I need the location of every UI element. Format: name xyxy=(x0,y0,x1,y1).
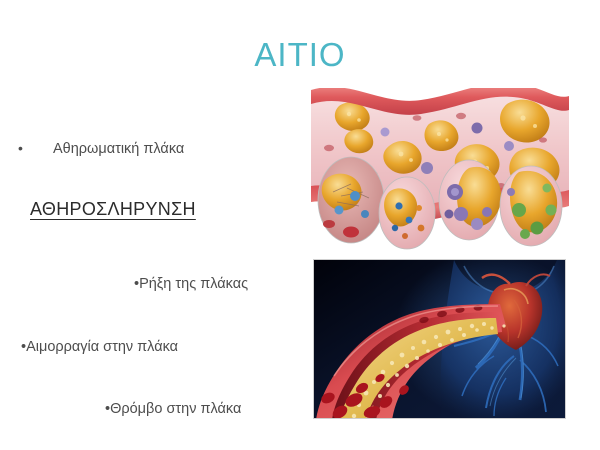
inset-circle-2 xyxy=(379,177,435,249)
sub-bullet-plaque-thrombus: •Θρόμβο στην πλάκα xyxy=(105,401,241,417)
bullet-item-label: Αθηρωματική πλάκα xyxy=(53,141,184,157)
page-title: ΑΙΤΙΟ xyxy=(0,36,600,74)
artery-plaque-illustration xyxy=(311,88,569,250)
inset-circle-4 xyxy=(500,166,562,246)
bullet-marker-icon: • xyxy=(18,141,53,155)
inset-circle-1 xyxy=(318,157,384,243)
bullet-item-atheromatous-plaque: • Αθηρωματική πλάκα xyxy=(18,141,184,157)
slide-canvas: ΑΙΤΙΟ • Αθηρωματική πλάκα ΑΘΗΡΟΣΛΗΡΥΝΣΗ … xyxy=(0,0,600,450)
sub-bullet-plaque-rupture: •Ρήξη της πλάκας xyxy=(134,276,248,292)
artery-cross-section-heart-illustration xyxy=(313,259,566,419)
sub-bullet-plaque-hemorrhage: •Αιμορραγία στην πλάκα xyxy=(21,339,178,355)
section-heading-atherosclerosis: ΑΘΗΡΟΣΛΗΡΥΝΣΗ xyxy=(30,199,196,220)
